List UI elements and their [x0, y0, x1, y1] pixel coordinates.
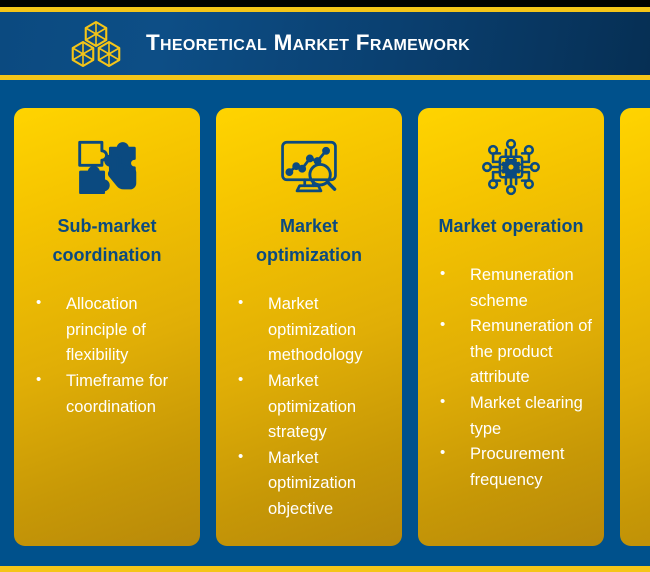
card-market-optimization[interactable]: Market optimization Market optimization … [216, 108, 402, 546]
list-item: Allocation principle of flexibility [24, 292, 190, 369]
cards-row: Sub-market coordination Allocation princ… [0, 108, 650, 546]
card-sub-market-coordination[interactable]: Sub-market coordination Allocation princ… [14, 108, 200, 546]
card-icon-slot [630, 130, 650, 204]
three-hexagons-icon [68, 19, 124, 69]
card-heading: Market optimization [226, 212, 392, 270]
header-bottom-accent-rule [0, 75, 650, 80]
list-item: Market clearing type [428, 391, 594, 442]
card-bullet-list: Remuneration scheme Remuneration of the … [428, 263, 594, 493]
card-bullet-list: Market optimization methodology Market o… [226, 292, 392, 522]
gear-network-chip-icon [481, 138, 541, 196]
card-heading: Sub-market coordination [24, 212, 190, 270]
card-icon-slot [226, 130, 392, 204]
list-item: Remuneration of the product attribute [428, 314, 594, 391]
top-black-strip [0, 0, 650, 7]
header-region: Theoretical Market Framework [0, 7, 650, 85]
list-item: Remuneration scheme [428, 263, 594, 314]
monitor-chart-search-icon [278, 138, 340, 196]
card-market-operation[interactable]: Market operation Remuneration scheme Rem… [418, 108, 604, 546]
list-item: Timeframe for coordination [24, 369, 190, 420]
card-partial-right[interactable] [620, 108, 650, 546]
header-band: Theoretical Market Framework [0, 12, 650, 75]
list-item: Market optimization strategy [226, 369, 392, 446]
puzzle-hand-icon [76, 138, 138, 196]
slide-canvas: Theoretical Market Framework [0, 0, 650, 572]
card-heading: Market operation [428, 212, 594, 241]
list-item: Market optimization objective [226, 446, 392, 523]
list-item: Market optimization methodology [226, 292, 392, 369]
card-icon-slot [428, 130, 594, 204]
list-item: Procurement frequency [428, 442, 594, 493]
bottom-accent-rule [0, 566, 650, 572]
body-region: Sub-market coordination Allocation princ… [0, 85, 650, 566]
card-icon-slot [24, 130, 190, 204]
card-bullet-list: Allocation principle of flexibility Time… [24, 292, 190, 420]
page-title: Theoretical Market Framework [146, 32, 470, 55]
